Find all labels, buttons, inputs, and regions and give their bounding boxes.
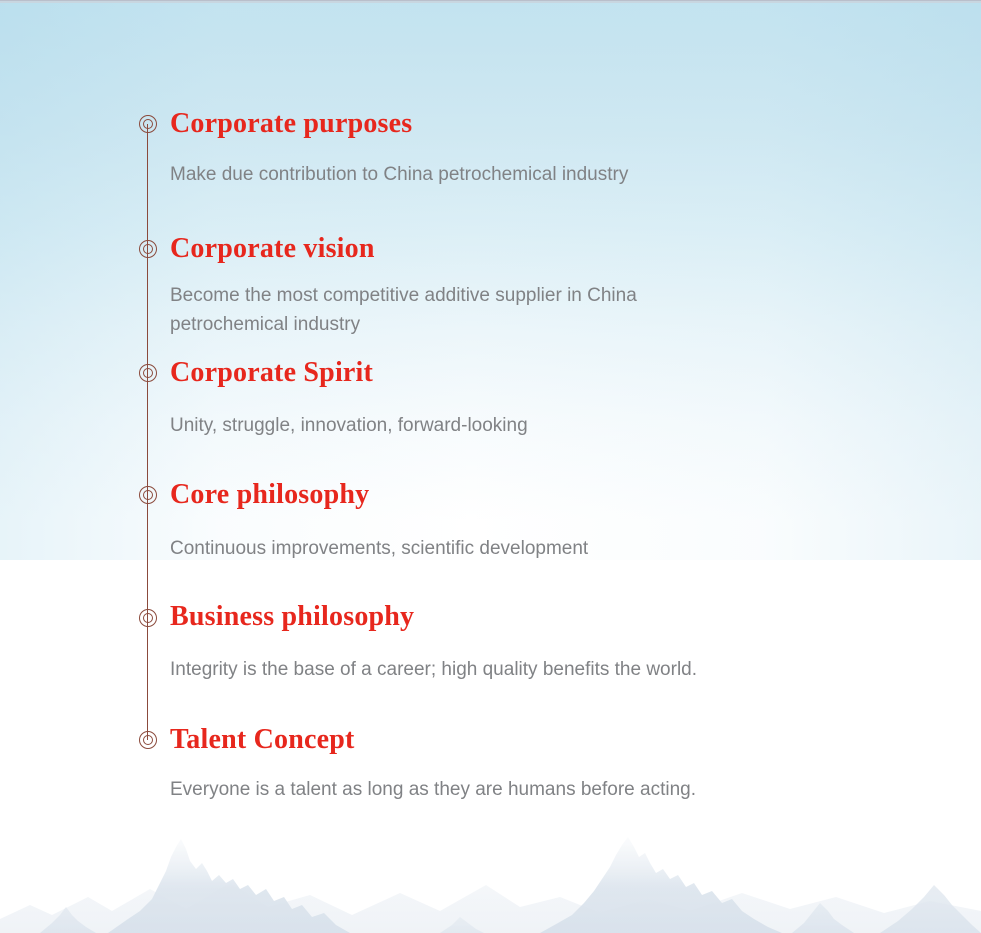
timeline-item-heading: Corporate Spirit <box>170 359 373 387</box>
double-ring-circle-icon <box>139 364 157 382</box>
timeline-item-body: Make due contribution to China petrochem… <box>170 160 770 189</box>
corporate-culture-page: Corporate purposes Make due contribution… <box>0 0 981 933</box>
double-ring-circle-icon <box>139 115 157 133</box>
double-ring-circle-icon <box>139 486 157 504</box>
timeline-item-heading: Corporate vision <box>170 235 375 263</box>
timeline-item-heading: Talent Concept <box>170 726 355 754</box>
double-ring-circle-icon <box>139 609 157 627</box>
timeline-item-body: Become the most competitive additive sup… <box>170 281 755 339</box>
double-ring-circle-icon <box>139 731 157 749</box>
timeline-item-body: Unity, struggle, innovation, forward-loo… <box>170 411 770 440</box>
timeline-item-heading: Corporate purposes <box>170 110 412 138</box>
timeline-item-heading: Core philosophy <box>170 481 369 509</box>
double-ring-circle-icon <box>139 240 157 258</box>
timeline-spine-line <box>147 124 148 740</box>
timeline-item-heading: Business philosophy <box>170 603 414 631</box>
timeline-item-body: Integrity is the base of a career; high … <box>170 655 870 684</box>
timeline-item-body: Continuous improvements, scientific deve… <box>170 534 770 563</box>
timeline-item-body: Everyone is a talent as long as they are… <box>170 775 890 804</box>
timeline: Corporate purposes Make due contribution… <box>0 0 981 933</box>
